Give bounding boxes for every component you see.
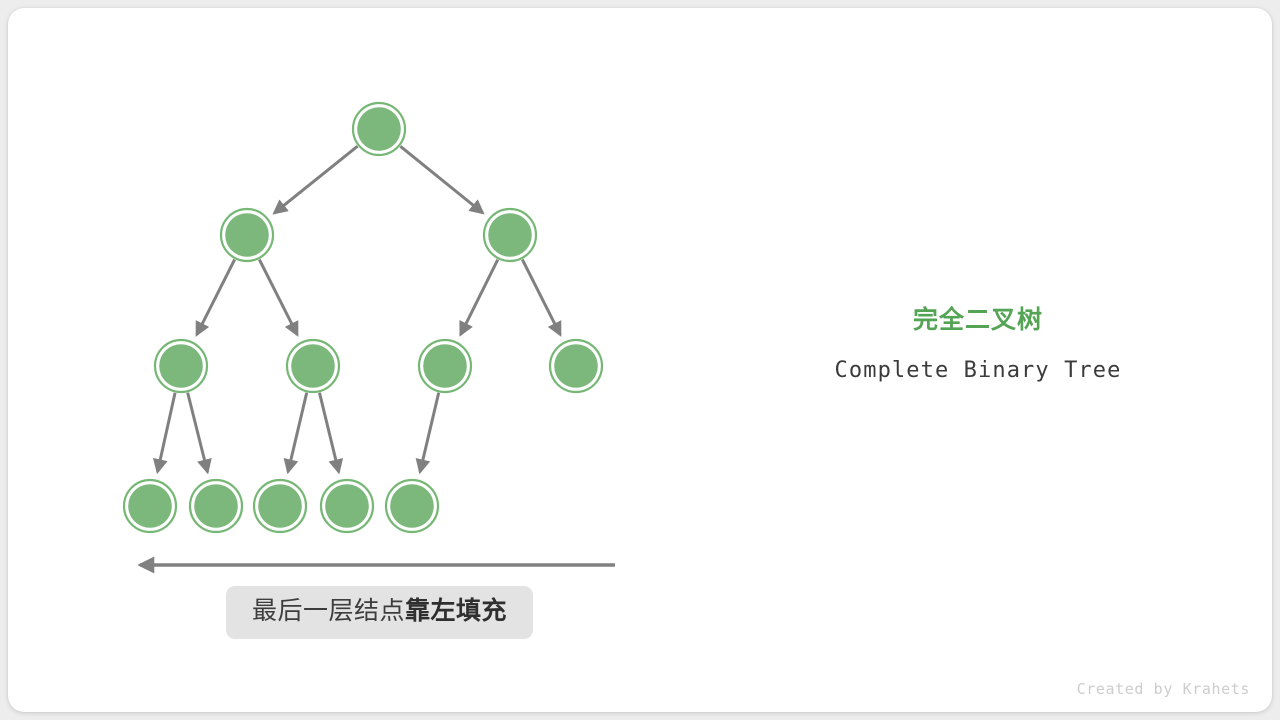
tree-node-fill xyxy=(554,344,598,388)
tree-edge xyxy=(461,260,498,335)
tree-node xyxy=(353,103,405,155)
tree-node-fill xyxy=(357,107,401,151)
tree-node-fill xyxy=(258,484,302,528)
tree-edge xyxy=(420,393,439,472)
tree-edge-layer xyxy=(158,146,561,472)
tree-edge xyxy=(288,393,307,472)
credit-text: Created by Krahets xyxy=(1077,680,1250,698)
tree-node-fill xyxy=(488,213,532,257)
tree-node xyxy=(155,340,207,392)
tree-edge xyxy=(158,393,175,472)
legend-title: 完全二叉树 xyxy=(768,300,1188,336)
tree-node xyxy=(254,480,306,532)
legend-block: 完全二叉树 Complete Binary Tree xyxy=(768,300,1188,383)
tree-node-layer xyxy=(124,103,602,532)
tree-node xyxy=(386,480,438,532)
tree-edge xyxy=(274,146,357,213)
tree-edge xyxy=(259,260,297,335)
tree-edge xyxy=(188,393,208,472)
tree-node xyxy=(484,209,536,261)
tree-node-fill xyxy=(390,484,434,528)
diagram-card: 最后一层结点靠左填充 完全二叉树 Complete Binary Tree Cr… xyxy=(8,8,1272,712)
tree-edge xyxy=(319,393,338,472)
tree-node-fill xyxy=(325,484,369,528)
tree-node-fill xyxy=(128,484,172,528)
tree-node-fill xyxy=(159,344,203,388)
tree-node-fill xyxy=(225,213,269,257)
tree-node xyxy=(419,340,471,392)
caption-bold-text: 靠左填充 xyxy=(405,597,507,625)
tree-edge xyxy=(197,260,235,335)
tree-node xyxy=(124,480,176,532)
tree-node xyxy=(321,480,373,532)
tree-edge xyxy=(522,260,560,335)
caption-normal-text: 最后一层结点 xyxy=(252,597,405,625)
tree-node-fill xyxy=(423,344,467,388)
caption-badge: 最后一层结点靠左填充 xyxy=(226,586,533,639)
tree-node xyxy=(190,480,242,532)
tree-edge xyxy=(400,146,482,213)
tree-node-fill xyxy=(291,344,335,388)
tree-node xyxy=(221,209,273,261)
legend-subtitle: Complete Binary Tree xyxy=(768,358,1188,383)
tree-node-fill xyxy=(194,484,238,528)
tree-node xyxy=(287,340,339,392)
tree-node xyxy=(550,340,602,392)
